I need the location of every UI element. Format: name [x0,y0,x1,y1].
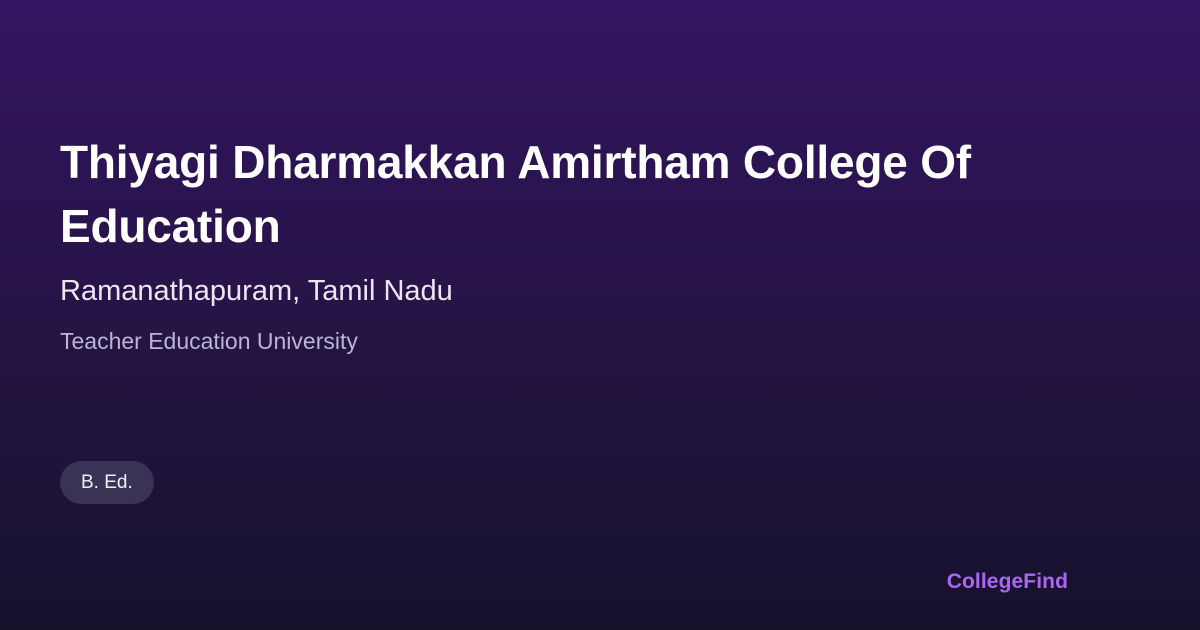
page-title: Thiyagi Dharmakkan Amirtham College Of E… [60,130,1070,258]
badge-list: B. Ed. [60,461,154,504]
og-social-card: Thiyagi Dharmakkan Amirtham College Of E… [0,0,1200,630]
card-content: Thiyagi Dharmakkan Amirtham College Of E… [60,0,1140,630]
brand-logo: CollegeFind [947,570,1068,594]
institution-location: Ramanathapuram, Tamil Nadu [60,272,453,310]
status-badge: B. Ed. [60,461,154,504]
institution-type: Teacher Education University [60,325,358,357]
